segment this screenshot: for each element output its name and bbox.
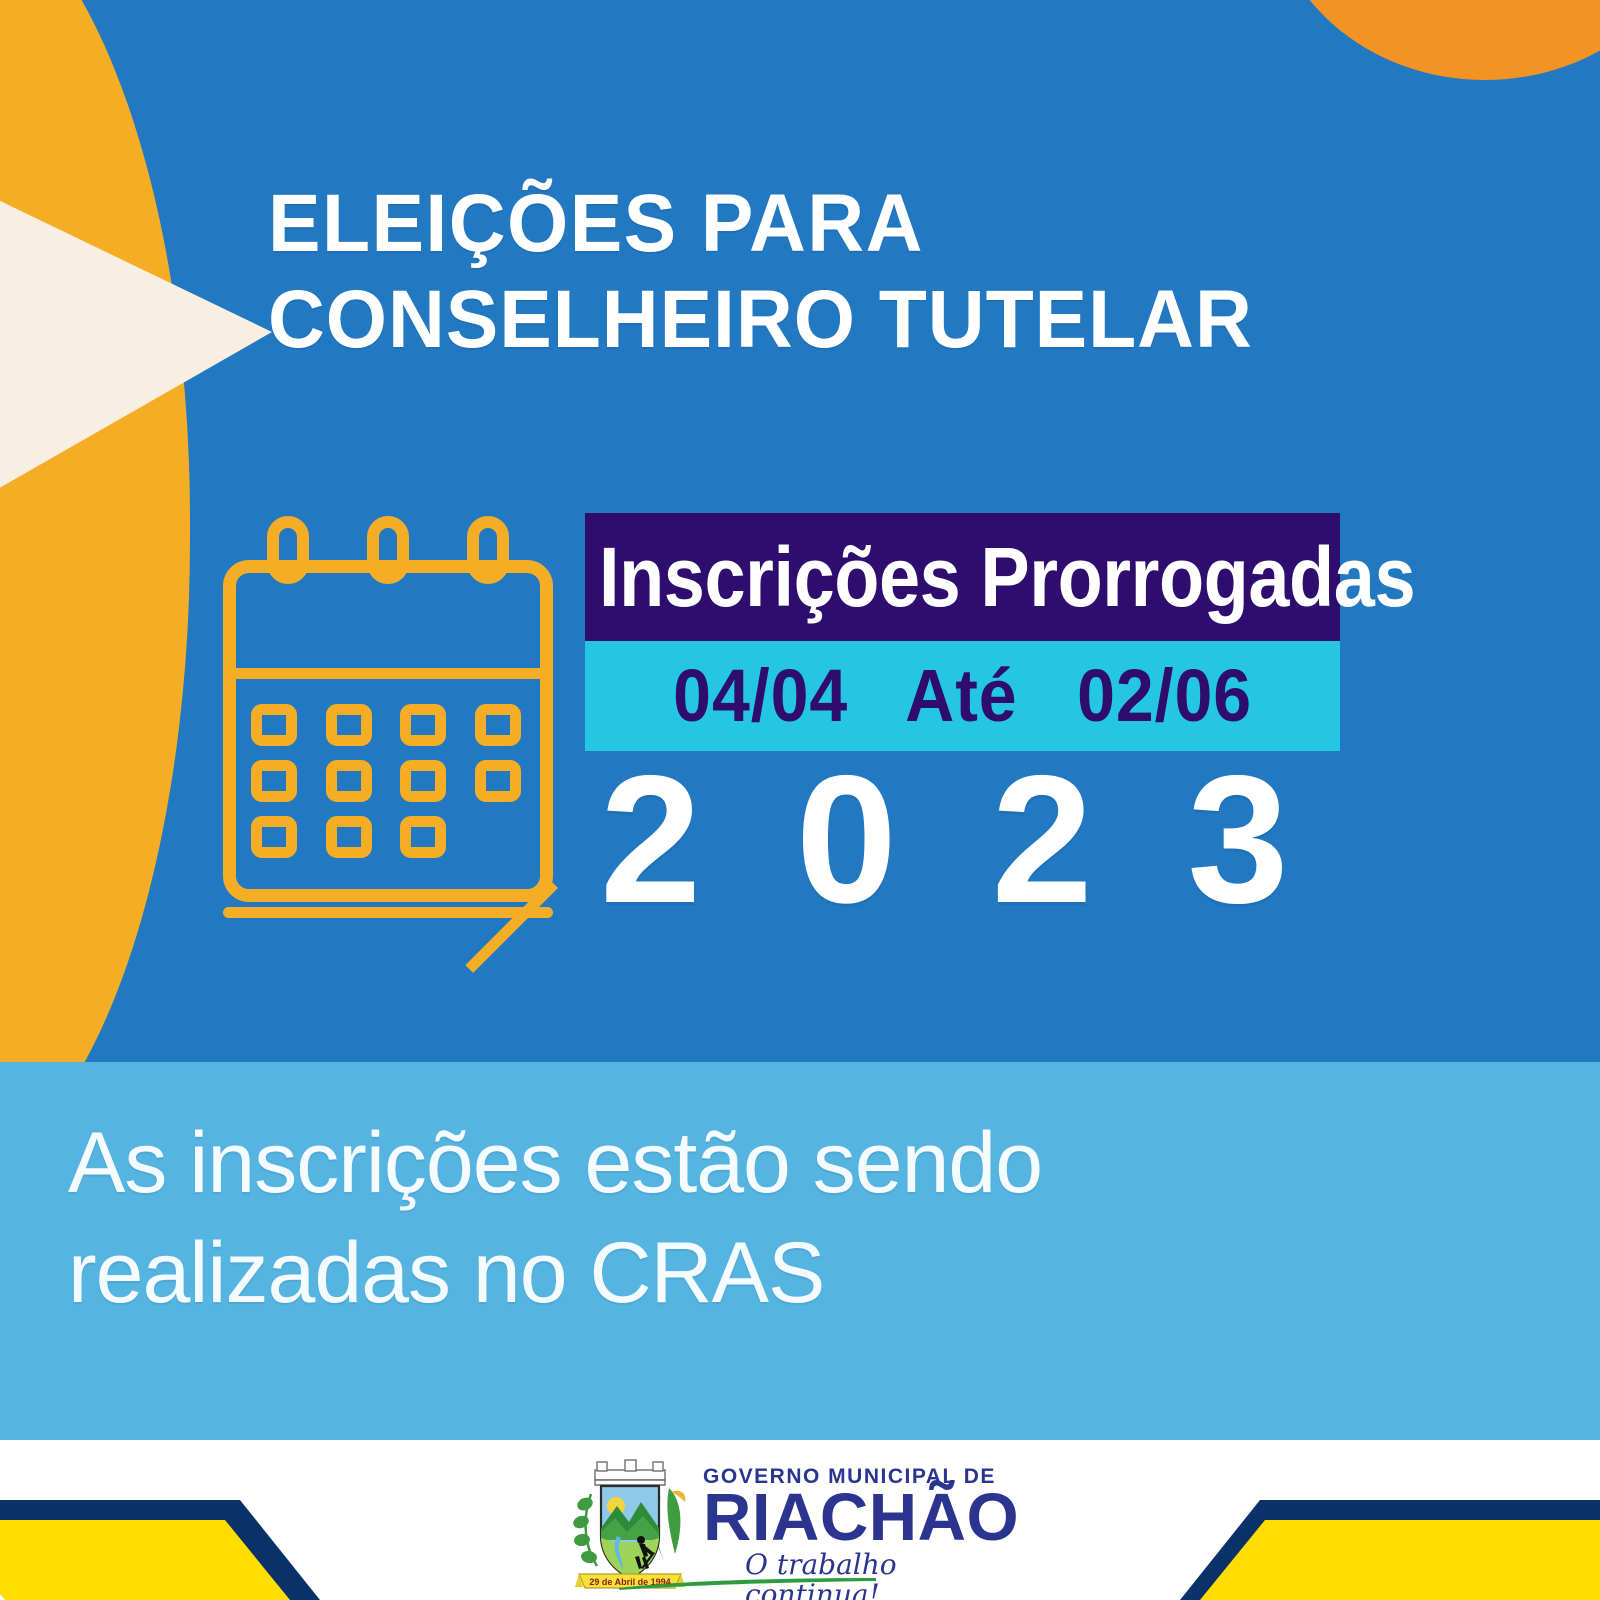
- calendar-day-cell-empty: [475, 816, 521, 858]
- calendar-base-line: [223, 907, 553, 918]
- status-badge-prorrogadas: Inscrições Prorrogadas: [585, 513, 1340, 641]
- municipal-logo: 29 de Abril de 1994 GOVERNO MUNICIPAL DE…: [565, 1458, 1035, 1598]
- year-label: 2 0 2 3: [600, 748, 1311, 930]
- logo-gov-line: GOVERNO MUNICIPAL DE: [703, 1466, 1035, 1488]
- decorative-orange-shape: [0, 0, 190, 1062]
- logo-swoosh-icon: [618, 1578, 878, 1590]
- calendar-header-divider: [223, 668, 553, 679]
- title-line-1: ELEIÇÕES PARA: [268, 178, 924, 269]
- calendar-day-cell: [475, 704, 521, 746]
- calendar-day-cell: [326, 816, 372, 858]
- decorative-triangle: [0, 172, 272, 522]
- poster-canvas: ELEIÇÕES PARA CONSELHEIRO TUTELAR Inscri…: [0, 0, 1600, 1600]
- title-line-2: CONSELHEIRO TUTELAR: [268, 272, 1420, 368]
- calendar-icon: [205, 508, 580, 928]
- calendar-day-cell: [400, 816, 446, 858]
- calendar-day-cell: [251, 760, 297, 802]
- decorative-circle: [1270, 0, 1600, 80]
- status-badge-label: Inscrições Prorrogadas: [599, 535, 1415, 619]
- logo-slogan: O trabalho continua!: [745, 1550, 1035, 1600]
- calendar-day-cell: [400, 704, 446, 746]
- calendar-day-cell: [326, 760, 372, 802]
- calendar-day-cell: [251, 816, 297, 858]
- date-range-badge: 04/04 Até 02/06: [585, 641, 1340, 751]
- calendar-day-cell: [251, 704, 297, 746]
- logo-city-name: RIACHÃO: [703, 1487, 1035, 1549]
- info-text: As inscrições estão sendo realizadas no …: [68, 1108, 1168, 1328]
- calendar-day-cell: [326, 704, 372, 746]
- calendar-day-grid: [251, 704, 531, 858]
- calendar-day-cell: [475, 760, 521, 802]
- page-title: ELEIÇÕES PARA CONSELHEIRO TUTELAR: [268, 176, 1420, 368]
- coat-of-arms-icon: 29 de Abril de 1994: [565, 1458, 695, 1598]
- date-range-label: 04/04 Até 02/06: [673, 659, 1252, 733]
- calendar-day-cell: [400, 760, 446, 802]
